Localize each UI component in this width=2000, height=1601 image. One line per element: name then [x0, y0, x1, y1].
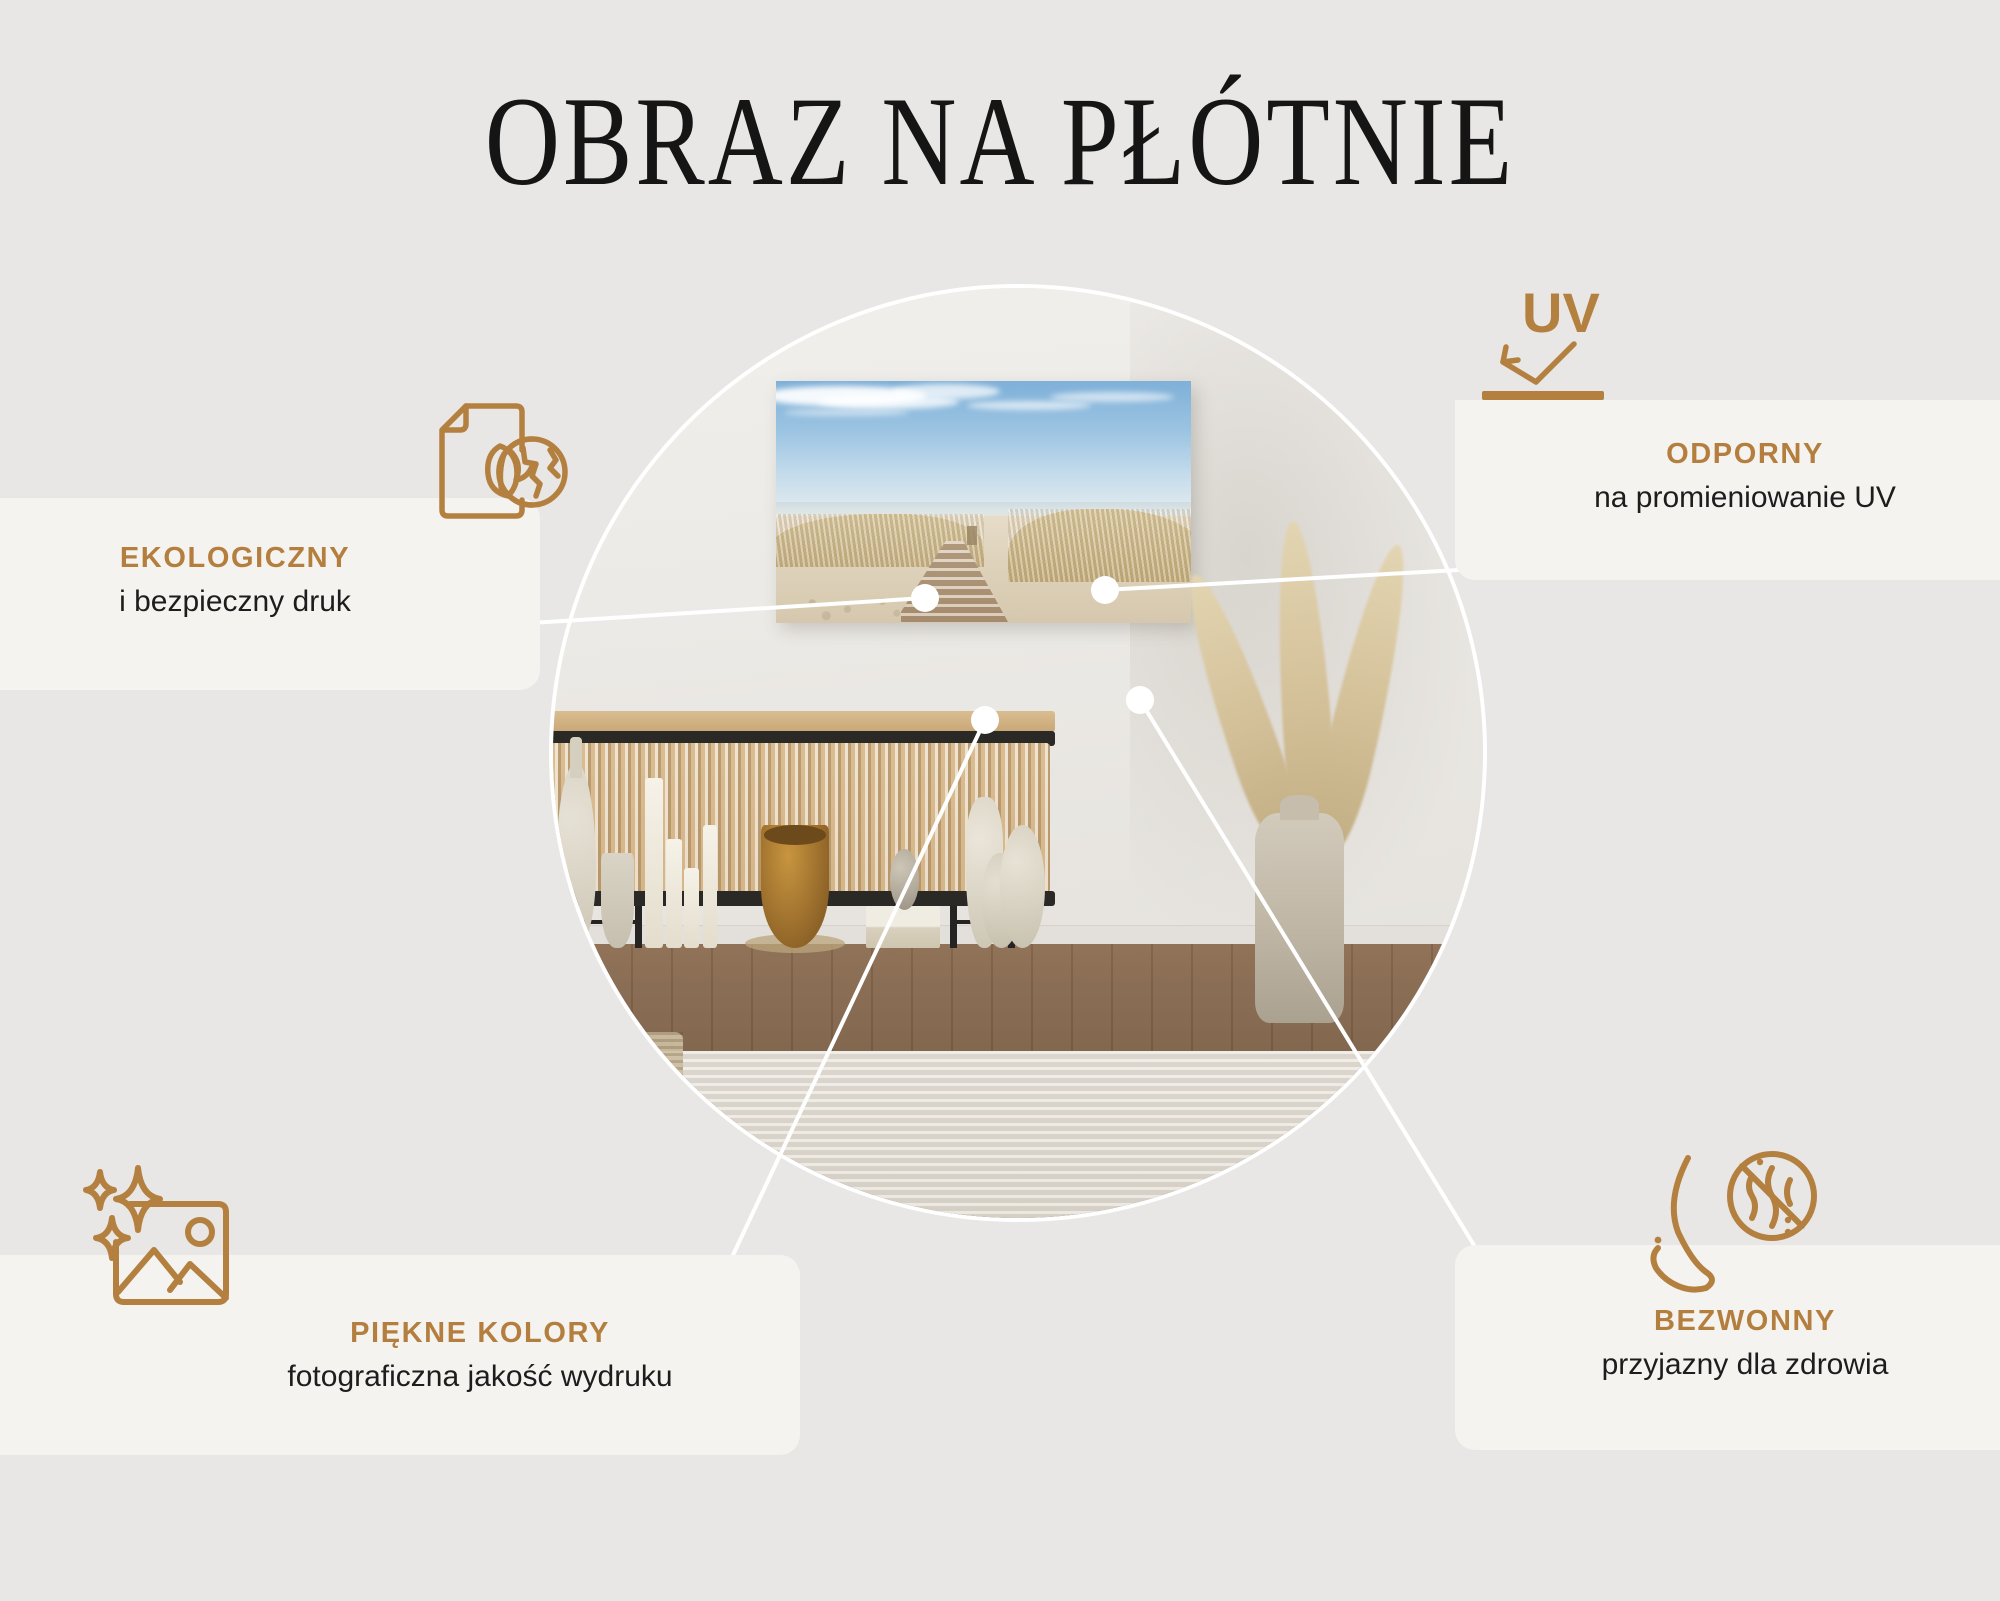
cloud: [967, 401, 1091, 410]
canvas-sky: [776, 381, 1191, 507]
decor-small-bowl: [601, 853, 634, 948]
infographic-stage: OBRAZ NA PŁÓTNIE: [0, 0, 2000, 1601]
decor-candle: [684, 868, 699, 949]
cloud: [1050, 392, 1174, 402]
cloud: [784, 409, 908, 417]
document-leaf-globe-icon: [428, 392, 578, 532]
living-room-scene: [553, 288, 1483, 1218]
feature-subtitle-eco: i bezpieczny druk: [0, 584, 470, 620]
room-scene-circle: [553, 288, 1483, 1218]
floor-ceramic-vase: [1255, 813, 1344, 1022]
woven-basket: [572, 1032, 684, 1153]
feature-card-uv[interactable]: ODPORNY na promieniowanie UV: [1455, 400, 2000, 580]
fluted-wood-sideboard: [553, 711, 1055, 948]
decor-candle: [703, 825, 717, 948]
decor-candle: [645, 778, 663, 949]
sideboard-top: [553, 711, 1055, 732]
nose-no-smell-icon: [1648, 1140, 1828, 1320]
feature-subtitle-colors: fotograficzna jakość wydruku: [200, 1359, 760, 1395]
uv-reflect-icon: UV: [1470, 278, 1630, 413]
sideboard-leg: [950, 906, 957, 949]
uv-icon-label: UV: [1522, 281, 1600, 344]
feature-card-uv-text: ODPORNY na promieniowanie UV: [1485, 438, 2000, 516]
grass-texture: [1008, 509, 1191, 582]
sideboard-leg: [635, 906, 642, 949]
decor-candle: [666, 839, 682, 948]
feature-card-colors-text: PIĘKNE KOLORY fotograficzna jakość wydru…: [200, 1317, 760, 1395]
area-rug: [553, 1051, 1483, 1218]
basket-weave: [572, 1032, 684, 1153]
canvas-dune-grass-right: [1008, 509, 1191, 582]
decor-brass-bowl: [761, 825, 829, 948]
picture-sparkle-icon: [78, 1158, 243, 1318]
decor-textured-sphere: [890, 849, 919, 911]
canvas-fence-post: [967, 526, 977, 545]
uv-surface-bar: [1482, 391, 1604, 400]
page-title: OBRAZ NA PŁÓTNIE: [0, 78, 2000, 207]
feature-kicker-eco: EKOLOGICZNY: [0, 542, 470, 575]
rug-texture: [553, 1051, 1483, 1218]
feature-kicker-colors: PIĘKNE KOLORY: [200, 1317, 760, 1350]
feature-subtitle-odor: przyjazny dla zdrowia: [1485, 1347, 2000, 1383]
cloud: [892, 384, 1000, 399]
feature-subtitle-uv: na promieniowanie UV: [1485, 480, 2000, 516]
decor-oval-vase: [1000, 825, 1045, 948]
feature-card-eco-text: EKOLOGICZNY i bezpieczny druk: [0, 542, 470, 620]
beach-boardwalk-canvas: [776, 381, 1191, 623]
feature-kicker-uv: ODPORNY: [1485, 438, 2000, 471]
decor-books: [866, 906, 940, 949]
